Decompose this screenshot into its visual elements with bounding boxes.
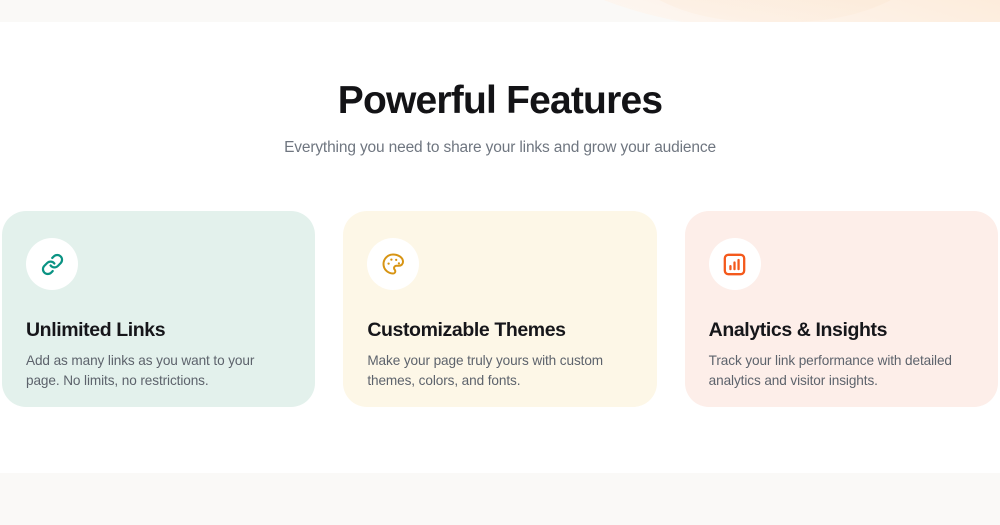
feature-card-title: Analytics & Insights — [709, 318, 974, 342]
icon-badge — [26, 238, 78, 290]
hero-section-bottom-edge — [0, 0, 1000, 22]
bar-chart-icon — [722, 252, 747, 277]
page-title: Powerful Features — [0, 78, 1000, 124]
icon-badge — [709, 238, 761, 290]
feature-card-analytics-insights[interactable]: Analytics & Insights Track your link per… — [685, 211, 998, 407]
feature-card-title: Unlimited Links — [26, 318, 291, 342]
page-subtitle: Everything you need to share your links … — [0, 138, 1000, 158]
feature-card-description: Track your link performance with detaile… — [709, 351, 974, 390]
feature-card-unlimited-links[interactable]: Unlimited Links Add as many links as you… — [2, 211, 315, 407]
feature-card-list: Unlimited Links Add as many links as you… — [2, 211, 998, 407]
feature-card-description: Make your page truly yours with custom t… — [367, 351, 632, 390]
icon-badge — [367, 238, 419, 290]
feature-card-customizable-themes[interactable]: Customizable Themes Make your page truly… — [343, 211, 656, 407]
palette-icon — [381, 252, 405, 276]
feature-card-title: Customizable Themes — [367, 318, 632, 342]
next-section-top-edge — [0, 473, 1000, 525]
feature-card-description: Add as many links as you want to your pa… — [26, 351, 291, 390]
link-icon — [41, 253, 64, 276]
features-page: Powerful Features Everything you need to… — [0, 0, 1000, 525]
section-header: Powerful Features Everything you need to… — [0, 78, 1000, 158]
